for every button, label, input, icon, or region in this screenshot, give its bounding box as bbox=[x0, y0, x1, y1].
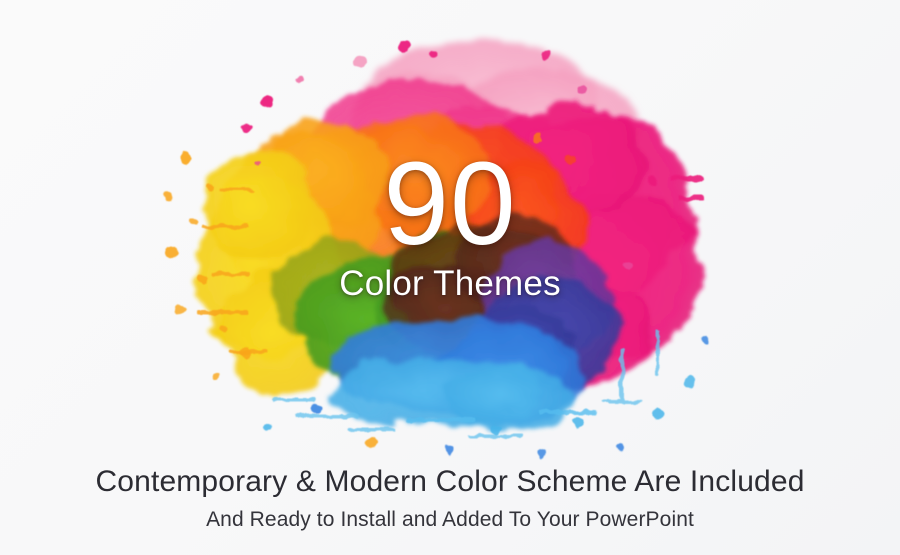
splash-droplet bbox=[572, 417, 584, 428]
splash-droplet bbox=[191, 219, 198, 225]
splash-droplet bbox=[175, 305, 185, 315]
footer-subheadline: And Ready to Install and Added To Your P… bbox=[0, 507, 900, 533]
splash-droplet bbox=[616, 444, 625, 452]
splash-droplet bbox=[220, 325, 228, 332]
splash-droplet bbox=[181, 152, 192, 164]
footer-copy: Contemporary & Modern Color Scheme Are I… bbox=[0, 464, 900, 533]
splash-droplet bbox=[491, 426, 501, 435]
splash-droplet bbox=[255, 159, 261, 164]
splash-droplet bbox=[653, 409, 663, 420]
splash-droplet bbox=[262, 96, 275, 109]
splash-droplet bbox=[198, 275, 207, 285]
footer-headline: Contemporary & Modern Color Scheme Are I… bbox=[0, 464, 900, 501]
splash-droplet bbox=[685, 376, 696, 388]
splash-droplet bbox=[577, 85, 587, 95]
splash-droplet bbox=[311, 402, 321, 413]
splash-droplet bbox=[213, 372, 220, 379]
splash-droplet bbox=[241, 347, 252, 358]
splash-droplet bbox=[542, 49, 551, 59]
splash-droplet bbox=[677, 217, 684, 224]
splash-droplet bbox=[367, 436, 378, 448]
splash-droplet bbox=[399, 40, 411, 53]
slide-canvas: 90 Color Themes Contemporary & Modern Co… bbox=[0, 0, 900, 555]
splash-droplet bbox=[166, 246, 178, 258]
splash-droplet bbox=[702, 336, 710, 345]
splash-droplet bbox=[241, 124, 251, 133]
splash-droplet bbox=[163, 191, 173, 201]
splash-droplet bbox=[446, 445, 455, 455]
watercolor-splash-artwork bbox=[150, 10, 750, 470]
splash-droplet bbox=[206, 183, 214, 190]
splash-droplet bbox=[623, 261, 633, 271]
splash-droplet bbox=[648, 175, 657, 185]
splash-droplet bbox=[538, 450, 546, 459]
splash-droplet bbox=[355, 56, 366, 68]
splash-droplet bbox=[264, 424, 272, 431]
splash-droplet bbox=[565, 155, 575, 165]
splash-droplet bbox=[296, 76, 304, 84]
splash-droplet bbox=[429, 50, 438, 58]
splash-droplet bbox=[534, 133, 543, 143]
